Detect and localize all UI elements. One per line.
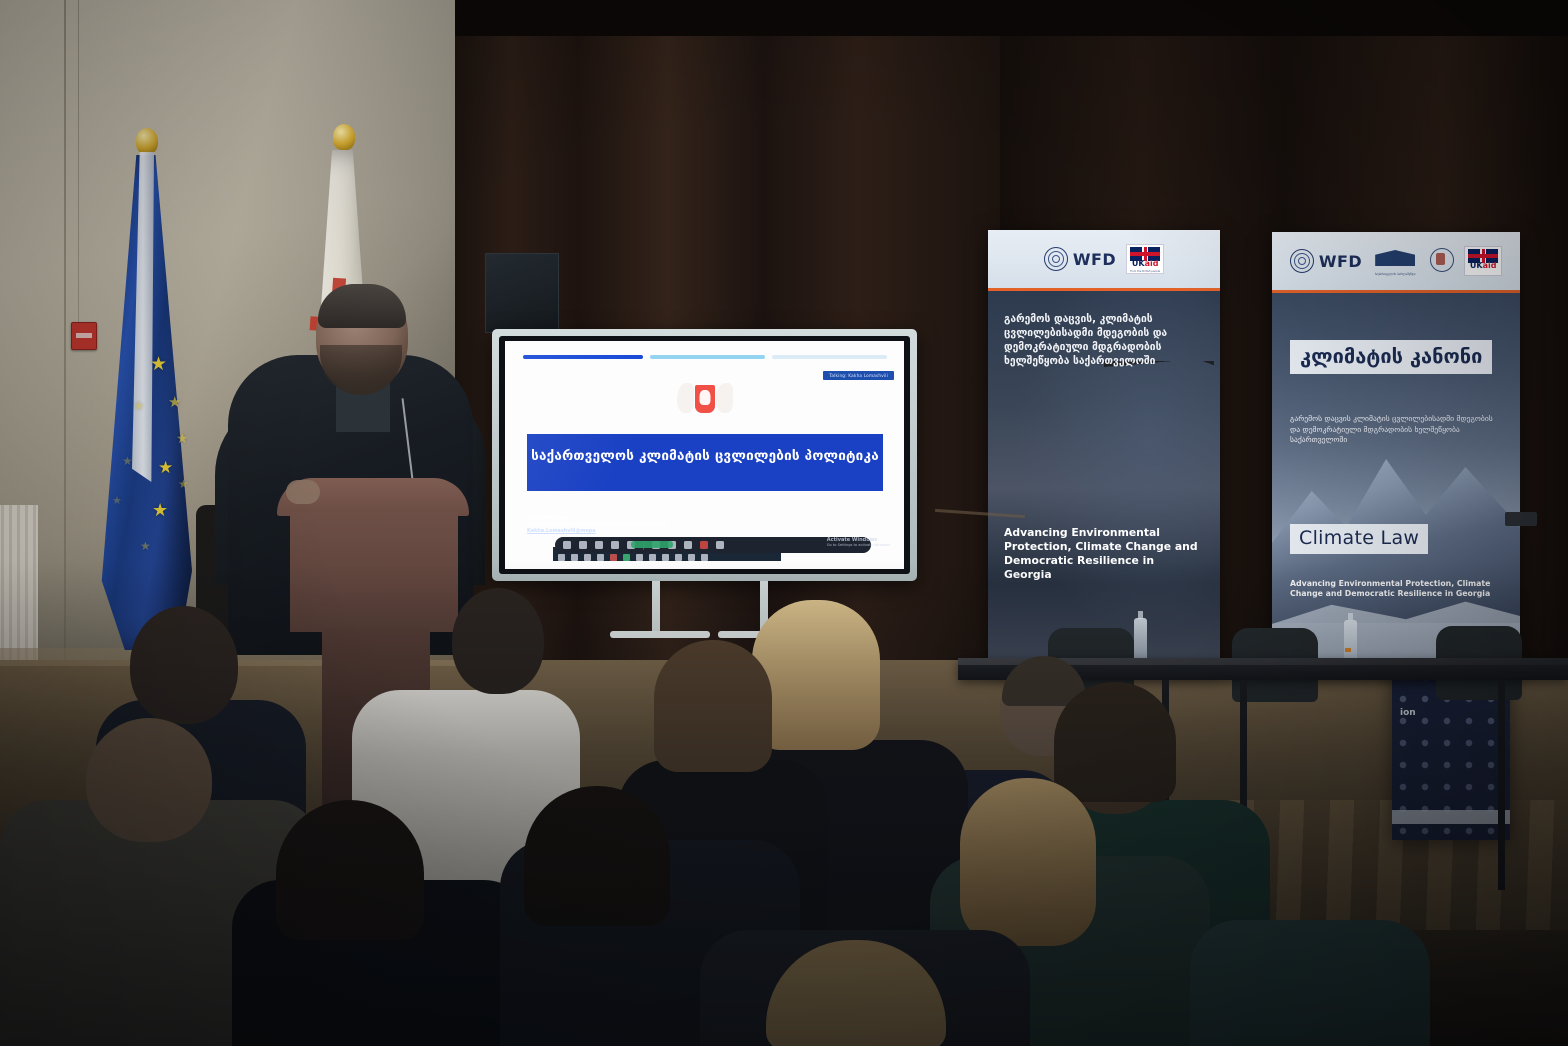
progress-segment-active xyxy=(523,355,643,359)
annotate-icon[interactable] xyxy=(649,554,656,561)
remote-control-icon[interactable] xyxy=(675,554,682,561)
government-seal-logo xyxy=(1428,247,1454,275)
talking-badge: Talking: Kakha Lomashvili xyxy=(823,371,894,380)
wall-loudspeaker xyxy=(485,253,559,333)
eu-star-icon: ★ xyxy=(158,460,173,477)
ukaid-label: UKaid xyxy=(1465,261,1501,270)
slide-credits: კახა ლომაშვილი გარემოს დაცვისა და სოფლის… xyxy=(527,515,668,535)
parliament-of-georgia-logo: საქართველოს პარლამენტი xyxy=(1372,246,1418,276)
windows-activation-watermark: Activate Windows Go to Settings to activ… xyxy=(827,537,890,547)
progress-segment-upcoming xyxy=(772,355,887,359)
chat-icon[interactable] xyxy=(610,554,617,561)
presentation-screen[interactable]: Talking: Kakha Lomashvili საქართველოს კლ… xyxy=(505,341,904,569)
bottle-cap xyxy=(1345,648,1351,652)
banner-right-english-sub: Advancing Environmental Protection, Clim… xyxy=(1290,579,1500,600)
banner-left-accent-rule xyxy=(988,288,1220,291)
parliament-caption: საქართველოს პარლამენტი xyxy=(1372,272,1418,276)
banner-left-georgian-text: გარემოს დაცვის, კლიმატის ცვლილებისადმი მ… xyxy=(1004,312,1204,368)
settings-icon[interactable] xyxy=(684,541,692,549)
wfd-mark-icon xyxy=(1290,249,1314,273)
security-icon[interactable] xyxy=(584,554,591,561)
audience-member-hair xyxy=(276,800,424,940)
banner-right: WFD საქართველოს პარლამენტი UKaid კლიმატი… xyxy=(1272,232,1520,672)
audience-member-head xyxy=(86,718,212,842)
audience-member-hair xyxy=(1054,682,1176,802)
presenter-organization: გარემოს დაცვისა და სოფლის მეურნეობის სამ… xyxy=(527,522,668,529)
presenter-email[interactable]: Kakha.Lomashvili@mepa xyxy=(527,528,668,535)
wall-edge xyxy=(64,0,66,700)
ukaid-sublabel: from the British people xyxy=(1127,270,1163,273)
progress-segment-next xyxy=(650,355,765,359)
banner-left: WFD UKaid from the British people გარემო… xyxy=(988,230,1220,670)
parliament-building-icon xyxy=(1375,250,1415,266)
audience-member-head xyxy=(130,606,238,724)
banner-right-english-title: Climate Law xyxy=(1290,524,1428,554)
fire-alarm-call-point-icon xyxy=(71,322,97,350)
flag-finial-icon xyxy=(136,128,158,154)
wfd-logo: WFD xyxy=(1044,247,1116,271)
audience-member-body xyxy=(1190,920,1430,1046)
wfd-label: WFD xyxy=(1319,252,1362,271)
eu-star-icon: ★ xyxy=(168,395,181,410)
eu-star-icon: ★ xyxy=(178,478,189,490)
eu-star-icon: ★ xyxy=(140,540,151,552)
banner-back-base xyxy=(1392,810,1510,824)
slide-title: საქართველოს კლიმატის ცვლილების პოლიტიკა xyxy=(527,448,883,464)
undo-icon[interactable] xyxy=(595,541,603,549)
slide-progress-bar xyxy=(523,355,887,359)
ukaid-label: UKaid xyxy=(1127,259,1163,268)
lectern-body xyxy=(290,512,458,632)
eu-star-icon: ★ xyxy=(133,400,145,413)
watermark-line-2: Go to Settings to activate Windows xyxy=(827,543,890,547)
display-stand-post xyxy=(652,581,660,637)
wfd-mark-icon xyxy=(1044,247,1068,271)
curtain-valance xyxy=(455,0,1568,36)
audience-member-hair xyxy=(654,640,772,772)
presenter-name: კახა ლომაშვილი xyxy=(527,515,668,522)
audience-member-hair xyxy=(524,786,670,926)
stop-video-icon[interactable] xyxy=(571,554,578,561)
seal-shield-icon xyxy=(1436,253,1445,265)
banner-left-header: WFD UKaid from the British people xyxy=(988,230,1220,288)
equipment-box xyxy=(1505,512,1537,526)
eu-star-icon: ★ xyxy=(112,495,122,506)
stop-share-icon[interactable] xyxy=(700,541,708,549)
eu-star-icon: ★ xyxy=(152,502,168,520)
eu-star-icon: ★ xyxy=(122,455,133,467)
redo-icon[interactable] xyxy=(611,541,619,549)
audience-member-head xyxy=(452,588,544,694)
participants-icon[interactable] xyxy=(597,554,604,561)
display-stand-foot xyxy=(610,631,710,638)
georgia-coat-of-arms-icon xyxy=(677,377,733,429)
new-share-icon[interactable] xyxy=(563,541,571,549)
alarm-cord xyxy=(78,0,79,340)
conference-photo: ★ ★ ★ ★ ★ ★ ★ ★ ★ ★ Talking: Kakha Lomas… xyxy=(0,0,1568,1046)
ukaid-logo: UKaid xyxy=(1464,246,1502,276)
audience-member-hair xyxy=(960,778,1096,946)
zoom-share-toolbar[interactable] xyxy=(555,537,871,553)
banner-right-header: WFD საქართველოს პარლამენტი UKaid xyxy=(1272,232,1520,290)
pause-share-icon[interactable] xyxy=(579,541,587,549)
banner-right-accent-rule xyxy=(1272,290,1520,293)
more-icon[interactable] xyxy=(701,554,708,561)
pause-share-icon[interactable] xyxy=(636,554,643,561)
share-screen-icon[interactable] xyxy=(623,554,630,561)
more-options-icon[interactable] xyxy=(716,541,724,549)
ukaid-logo: UKaid from the British people xyxy=(1126,244,1164,274)
wfd-label: WFD xyxy=(1073,250,1116,269)
table-leg xyxy=(1498,680,1505,890)
banner-back-text: ion xyxy=(1400,708,1416,718)
slide-title-band: საქართველოს კლიმატის ცვლილების პოლიტიკა xyxy=(527,434,883,491)
mute-icon[interactable] xyxy=(558,554,565,561)
eu-star-icon: ★ xyxy=(150,355,167,374)
screen-share-indicator xyxy=(631,541,673,548)
banner-right-georgian-title: კლიმატის კანონი xyxy=(1290,340,1492,374)
eu-star-icon: ★ xyxy=(176,432,189,446)
presenter-hand xyxy=(286,480,320,504)
flag-finial-icon xyxy=(333,124,355,150)
ai-companion-icon[interactable] xyxy=(662,554,669,561)
banner-right-georgian-sub: გარემოს დაცვის კლიმატის ცვლილებისადმი მდ… xyxy=(1290,414,1500,446)
wfd-logo: WFD xyxy=(1290,249,1362,273)
radiator xyxy=(0,505,38,665)
banner-left-english-text: Advancing Environmental Protection, Clim… xyxy=(1004,526,1204,582)
apps-icon[interactable] xyxy=(688,554,695,561)
